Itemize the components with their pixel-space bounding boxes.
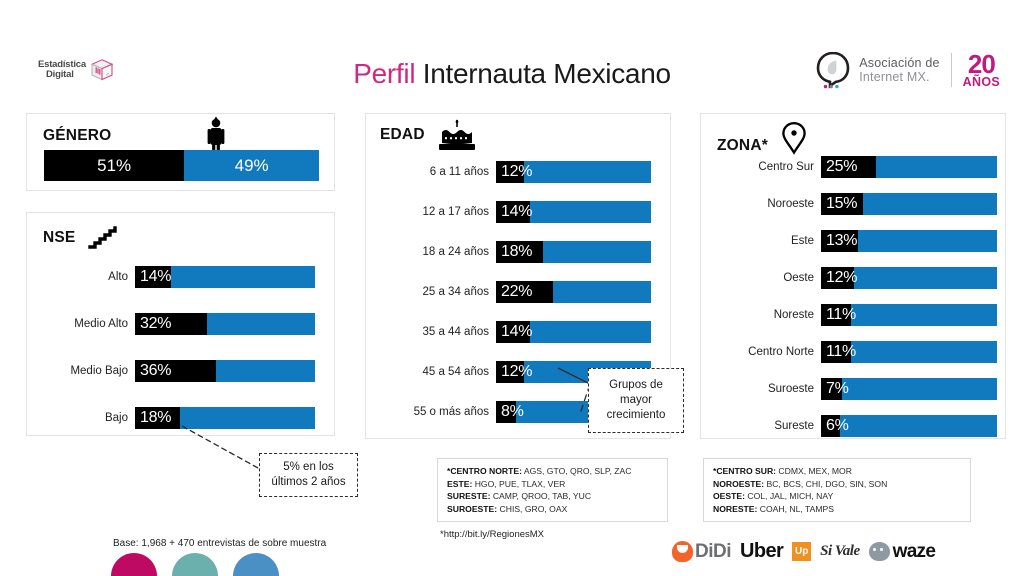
note-val: BC, BCS, CHI, DGO, SIN, SON bbox=[764, 479, 887, 489]
sivale-logo: Si Vale bbox=[820, 543, 859, 560]
nse-row: Alto 14% bbox=[37, 266, 326, 288]
note-key: SUROESTE: bbox=[447, 504, 497, 514]
asociacion-line-2: Internet MX. bbox=[859, 70, 939, 84]
regions-url[interactable]: *http://bit.ly/RegionesMX bbox=[440, 529, 544, 540]
note-line: *CENTRO NORTE: AGS, GTO, QRO, SLP, ZAC bbox=[447, 465, 658, 478]
zona-row: Suroeste 7% bbox=[711, 378, 1002, 400]
edad-row: 35 a 44 años 14% bbox=[374, 321, 666, 343]
edad-row-bar: 18% bbox=[496, 241, 651, 263]
nse-row: Medio Alto 32% bbox=[37, 313, 326, 335]
waze-face-icon bbox=[869, 542, 890, 561]
didi-logo: DiDi bbox=[672, 541, 731, 563]
zona-row-bar: 15% bbox=[821, 193, 997, 215]
edad-row-label: 12 a 17 años bbox=[374, 206, 496, 218]
nse-row-value: 32% bbox=[140, 313, 171, 335]
edad-row-label: 18 a 24 años bbox=[374, 246, 496, 258]
nse-row-value: 36% bbox=[140, 360, 171, 382]
zona-row-bar: 25% bbox=[821, 156, 997, 178]
edad-row-label: 6 a 11 años bbox=[374, 166, 496, 178]
nse-panel: NSE Alto 14% Medio Alto 32% Medio Bajo bbox=[26, 212, 335, 436]
genero-panel: GÉNERO 51% 49% bbox=[26, 113, 335, 191]
zona-row: Sureste 6% bbox=[711, 415, 1002, 437]
note-line: OESTE: COL, JAL, MICH, NAY bbox=[713, 490, 961, 503]
edad-row: 18 a 24 años 18% bbox=[374, 241, 666, 263]
base-text: Base: 1,968 + 470 entrevistas de sobre m… bbox=[113, 538, 326, 549]
zona-row-value: 6% bbox=[826, 415, 849, 437]
edad-row-value: 22% bbox=[501, 281, 532, 303]
zona-panel: ZONA* Centro Sur 25% Noroeste 15% Este bbox=[700, 113, 1006, 439]
stairs-icon bbox=[89, 227, 117, 249]
note-line: NOROESTE: BC, BCS, CHI, DGO, SIN, SON bbox=[713, 478, 961, 491]
anniversary-number: 20 bbox=[963, 53, 1000, 76]
zona-row-bar: 11% bbox=[821, 304, 997, 326]
nse-callout-text: 5% en los últimos 2 años bbox=[266, 460, 351, 490]
zona-row-label: Sureste bbox=[711, 420, 821, 432]
note-val: AGS, GTO, QRO, SLP, ZAC bbox=[522, 466, 632, 476]
nse-row-label: Medio Alto bbox=[37, 318, 135, 330]
nse-row-label: Alto bbox=[37, 271, 135, 283]
edad-row-label: 25 a 34 años bbox=[374, 286, 496, 298]
zona-row-value: 13% bbox=[826, 230, 857, 252]
edad-row-bar: 22% bbox=[496, 281, 651, 303]
nse-row-bar: 36% bbox=[135, 360, 315, 382]
logo-divider bbox=[951, 53, 952, 87]
zona-regions-note: *CENTRO SUR: CDMX, MEX, MOR NOROESTE: BC… bbox=[703, 458, 971, 522]
zona-row-label: Suroeste bbox=[711, 383, 821, 395]
slide-root: Estadística Digital e Perfil Internauta … bbox=[0, 0, 1024, 576]
zona-row-label: Oeste bbox=[711, 272, 821, 284]
anniversary-label: AÑOS bbox=[963, 76, 1000, 88]
uber-logo: Uber bbox=[740, 540, 783, 563]
nse-row-bar: 32% bbox=[135, 313, 315, 335]
note-key: *CENTRO SUR: bbox=[713, 466, 776, 476]
zona-row: Centro Sur 25% bbox=[711, 156, 1002, 178]
note-val: CAMP, QROO, TAB, YUC bbox=[490, 491, 591, 501]
note-key: OESTE: bbox=[713, 491, 745, 501]
zona-title: ZONA* bbox=[717, 137, 768, 155]
zona-row-label: Noreste bbox=[711, 309, 821, 321]
zona-row-label: Centro Sur bbox=[711, 161, 821, 173]
nse-row-value: 18% bbox=[140, 407, 171, 429]
asociacion-internet-logo: Asociación de Internet MX. 20 AÑOS bbox=[814, 50, 1000, 90]
nse-row-bar: 18% bbox=[135, 407, 315, 429]
zona-row: Este 13% bbox=[711, 230, 1002, 252]
note-val: COL, JAL, MICH, NAY bbox=[745, 491, 833, 501]
zona-row-bar: 7% bbox=[821, 378, 997, 400]
zona-row-value: 12% bbox=[826, 267, 857, 289]
zona-row: Oeste 12% bbox=[711, 267, 1002, 289]
zona-row-label: Centro Norte bbox=[711, 346, 821, 358]
edad-row: 6 a 11 años 12% bbox=[374, 161, 666, 183]
note-val: CDMX, MEX, MOR bbox=[776, 466, 852, 476]
zona-row-bar: 6% bbox=[821, 415, 997, 437]
note-line: NORESTE: COAH, NL, TAMPS bbox=[713, 503, 961, 516]
note-key: *CENTRO NORTE: bbox=[447, 466, 522, 476]
zona-row-value: 25% bbox=[826, 156, 857, 178]
nse-row-label: Bajo bbox=[37, 412, 135, 424]
genero-male-segment: 51% bbox=[44, 150, 184, 181]
asociacion-internet-mark-icon bbox=[814, 50, 852, 90]
edad-row-label: 35 a 44 años bbox=[374, 326, 496, 338]
zona-row-label: Noroeste bbox=[711, 198, 821, 210]
edad-row: 12 a 17 años 14% bbox=[374, 201, 666, 223]
edad-row-bar: 12% bbox=[496, 161, 651, 183]
note-key: NORESTE: bbox=[713, 504, 757, 514]
waze-label: waze bbox=[893, 541, 936, 563]
note-val: CHIS, GRO, OAX bbox=[497, 504, 567, 514]
decorative-dot-1 bbox=[111, 553, 157, 576]
edad-callout: Grupos de mayor crecimiento bbox=[588, 368, 684, 433]
didi-mark-icon bbox=[672, 541, 693, 562]
zona-row-bar: 12% bbox=[821, 267, 997, 289]
note-line: SURESTE: CAMP, QROO, TAB, YUC bbox=[447, 490, 658, 503]
edad-row-value: 8% bbox=[501, 401, 524, 423]
edad-row-value: 14% bbox=[501, 321, 532, 343]
nse-row-value: 14% bbox=[140, 266, 171, 288]
nse-row: Medio Bajo 36% bbox=[37, 360, 326, 382]
note-val: COAH, NL, TAMPS bbox=[757, 504, 834, 514]
zona-row-label: Este bbox=[711, 235, 821, 247]
asociacion-line-1: Asociación de bbox=[859, 56, 939, 70]
page-title-accent: Perfil bbox=[353, 58, 415, 89]
nse-row-label: Medio Bajo bbox=[37, 365, 135, 377]
genero-female-segment: 49% bbox=[184, 150, 319, 181]
genero-male-value: 51% bbox=[97, 156, 131, 176]
note-key: ESTE: bbox=[447, 479, 472, 489]
edad-regions-note: *CENTRO NORTE: AGS, GTO, QRO, SLP, ZAC E… bbox=[437, 458, 668, 522]
zona-row-value: 11% bbox=[826, 304, 856, 326]
map-pin-icon bbox=[781, 121, 807, 155]
note-key: SURESTE: bbox=[447, 491, 490, 501]
zona-row: Centro Norte 11% bbox=[711, 341, 1002, 363]
edad-row-bar: 14% bbox=[496, 321, 651, 343]
edad-row-value: 18% bbox=[501, 241, 532, 263]
up-label: Up bbox=[795, 546, 808, 557]
genero-bar: 51% 49% bbox=[44, 150, 319, 181]
partner-logos: DiDi Uber Up Si Vale waze bbox=[672, 540, 935, 563]
edad-row-bar: 14% bbox=[496, 201, 651, 223]
nse-title: NSE bbox=[43, 229, 75, 247]
genero-title: GÉNERO bbox=[43, 127, 111, 145]
zona-row-value: 7% bbox=[826, 378, 849, 400]
edad-row-label: 55 o más años bbox=[374, 406, 496, 418]
decorative-dot-2 bbox=[172, 553, 218, 576]
note-key: NOROESTE: bbox=[713, 479, 764, 489]
note-val: HGO, PUE, TLAX, VER bbox=[472, 479, 565, 489]
edad-row-value: 12% bbox=[501, 161, 532, 183]
page-title-rest: Internauta Mexicano bbox=[415, 58, 671, 89]
nse-callout: 5% en los últimos 2 años bbox=[259, 453, 358, 497]
anniversary-badge: 20 AÑOS bbox=[963, 53, 1000, 88]
waze-logo: waze bbox=[869, 541, 936, 563]
zona-row-bar: 11% bbox=[821, 341, 997, 363]
edad-row: 25 a 34 años 22% bbox=[374, 281, 666, 303]
nse-row: Bajo 18% bbox=[37, 407, 326, 429]
edad-callout-text: Grupos de mayor crecimiento bbox=[595, 378, 677, 423]
didi-label: DiDi bbox=[695, 541, 731, 563]
note-line: *CENTRO SUR: CDMX, MEX, MOR bbox=[713, 465, 961, 478]
nse-row-bar: 14% bbox=[135, 266, 315, 288]
note-line: SUROESTE: CHIS, GRO, OAX bbox=[447, 503, 658, 516]
edad-row-value: 12% bbox=[501, 361, 532, 383]
zona-row-value: 15% bbox=[826, 193, 857, 215]
birthday-cake-icon bbox=[438, 119, 476, 153]
asociacion-internet-wordmark: Asociación de Internet MX. bbox=[859, 56, 939, 84]
note-line: ESTE: HGO, PUE, TLAX, VER bbox=[447, 478, 658, 491]
up-logo: Up bbox=[792, 542, 811, 561]
zona-row-value: 11% bbox=[826, 341, 856, 363]
edad-row-label: 45 a 54 años bbox=[374, 366, 496, 378]
zona-row-bar: 13% bbox=[821, 230, 997, 252]
genero-female-value: 49% bbox=[235, 156, 269, 176]
zona-row: Noroeste 15% bbox=[711, 193, 1002, 215]
edad-row-value: 14% bbox=[501, 201, 532, 223]
zona-row: Noreste 11% bbox=[711, 304, 1002, 326]
decorative-dot-3 bbox=[233, 553, 279, 576]
edad-title: EDAD bbox=[380, 126, 425, 144]
